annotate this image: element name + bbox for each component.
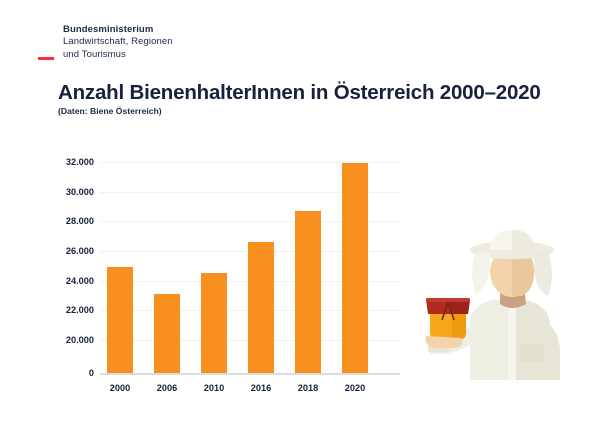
bar-2020[interactable] [342,163,368,373]
bar-2006[interactable] [154,294,180,373]
y-axis-tick-label: 28.000 [36,216,94,226]
poster-page: Bundesministerium Landwirtschaft, Region… [0,0,600,424]
x-axis-tick-label-2016: 2016 [251,383,271,393]
bar-2018[interactable] [295,211,321,373]
bar-2010[interactable] [201,273,227,373]
plot-area [100,150,400,374]
x-axis-tick-label-2006: 2006 [157,383,177,393]
bar-2000[interactable] [107,267,133,373]
y-axis-tick-label: 24.000 [36,276,94,286]
x-axis-baseline [100,373,400,375]
bar-2016[interactable] [248,242,274,373]
y-axis-tick-label: 30.000 [36,187,94,197]
x-axis-tick-label-2000: 2000 [110,383,130,393]
x-axis-tick-label-2010: 2010 [204,383,224,393]
y-axis-tick-label: 22.000 [36,305,94,315]
x-axis-tick-label-2018: 2018 [298,383,318,393]
y-axis-labels: 32.00030.00028.00026.00024.00022.00020.0… [36,150,94,374]
y-axis-tick-label: 0 [36,368,94,378]
y-axis-tick-label: 20.000 [36,335,94,345]
y-axis-tick-label: 32.000 [36,157,94,167]
y-axis-tick-label: 26.000 [36,246,94,256]
bar-chart: 32.00030.00028.00026.00024.00022.00020.0… [0,0,600,424]
x-axis-tick-label-2020: 2020 [345,383,365,393]
